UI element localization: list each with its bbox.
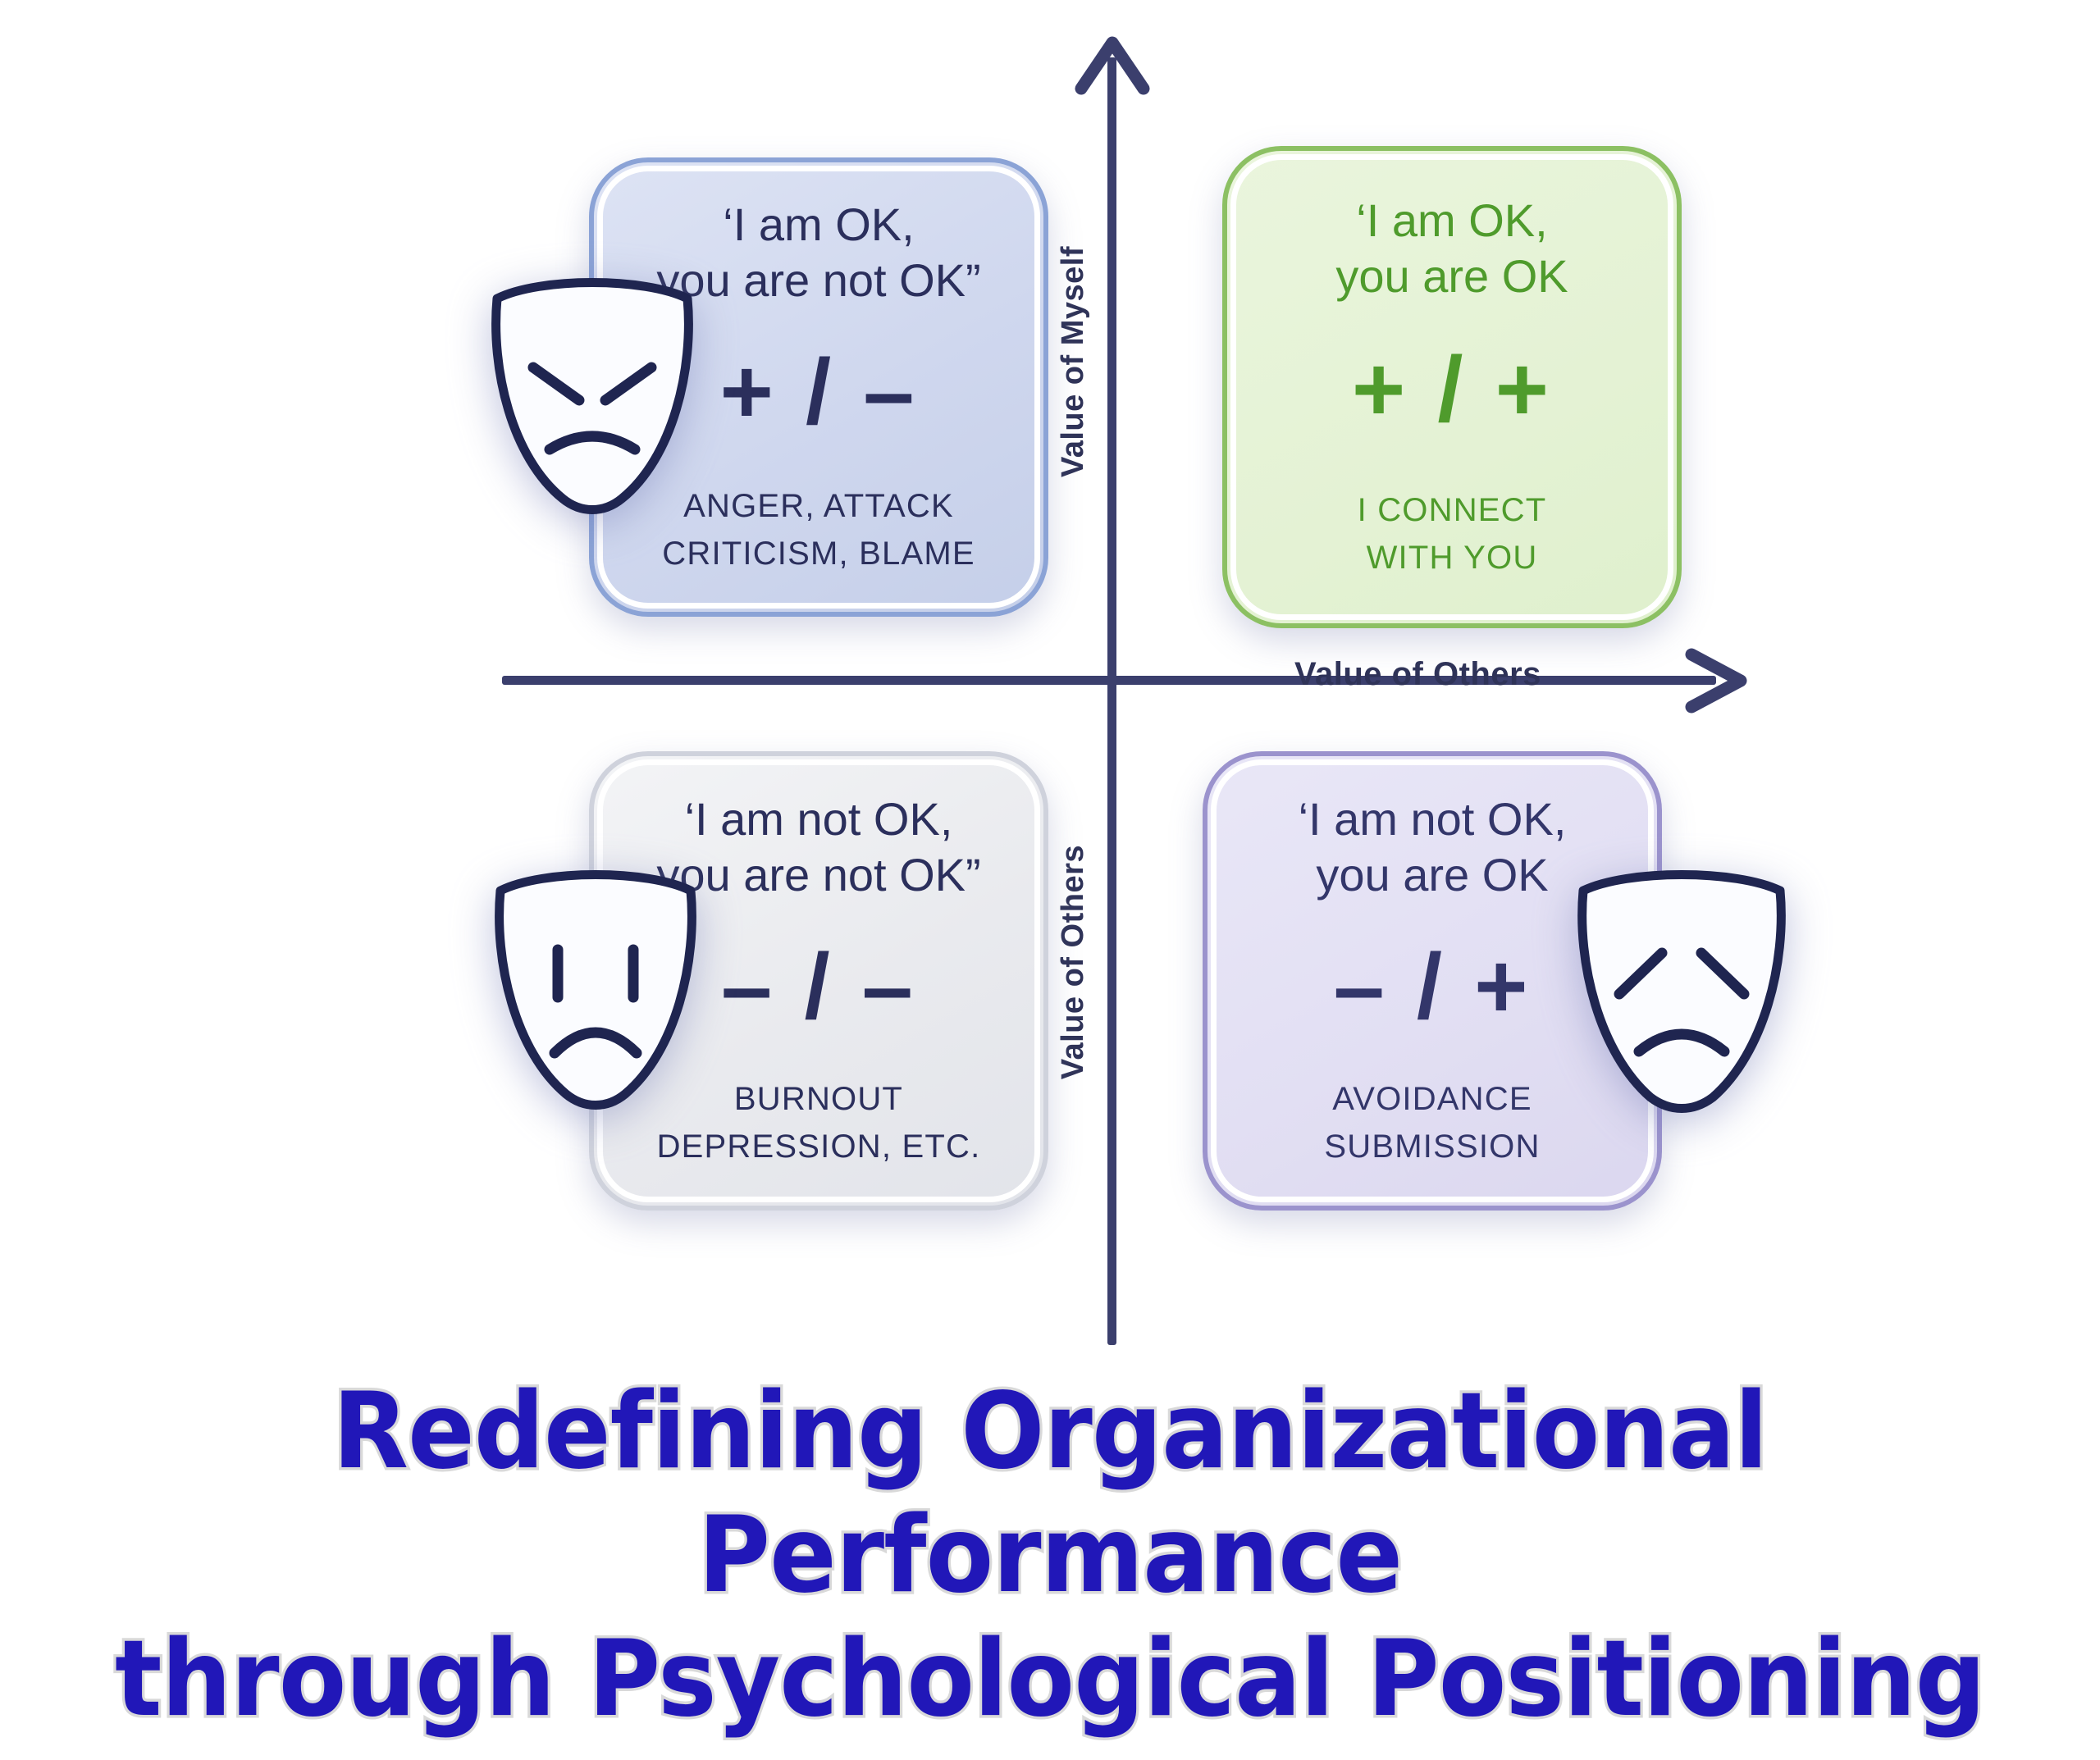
card-description: ANGER, ATTACK CRITICISM, BLAME xyxy=(662,482,975,577)
card-quote-line2: you are OK xyxy=(1335,248,1568,304)
card-desc-line2: SUBMISSION xyxy=(1324,1123,1540,1170)
page-title: Redefining Organizational Performance th… xyxy=(0,1370,2100,1741)
card-symbol: – / + xyxy=(1333,941,1531,1033)
card-quote-line1: ‘I am OK, xyxy=(1335,193,1568,248)
quadrant-card-top-right[interactable]: ‘I am OK, you are OK + / + I CONNECT WIT… xyxy=(1222,146,1682,628)
card-description: AVOIDANCE SUBMISSION xyxy=(1324,1075,1540,1170)
card-desc-line1: ANGER, ATTACK xyxy=(662,482,975,530)
card-desc-line2: DEPRESSION, ETC. xyxy=(657,1123,981,1170)
axis-label-value-of-others-vertical: Value of Others xyxy=(1056,845,1091,1079)
card-quote-line1: ‘I am not OK, xyxy=(1299,791,1567,847)
quadrant-diagram: Value of Myself Value of Others Value of… xyxy=(0,0,2100,1760)
vertical-axis-line xyxy=(1107,57,1116,1345)
horizontal-axis-arrow-icon xyxy=(1682,648,1757,714)
sad-mask-icon xyxy=(486,863,705,1120)
angry-mask-icon xyxy=(482,271,702,525)
page-title-line1: Redefining Organizational Performance xyxy=(63,1370,2037,1617)
card-quote: ‘I am OK, you are OK xyxy=(1335,193,1568,305)
card-symbol: + / + xyxy=(1352,344,1552,435)
card-quote-line2: you are not OK” xyxy=(656,253,980,308)
card-symbol: + / – xyxy=(719,346,917,438)
card-content: ‘I am OK, you are OK + / + I CONNECT WIT… xyxy=(1222,193,1682,582)
axis-label-value-of-others-horizontal: Value of Others xyxy=(1294,656,1541,693)
card-quote-line2: you are OK xyxy=(1299,847,1567,903)
card-desc-line2: WITH YOU xyxy=(1358,534,1547,581)
vertical-axis-arrow-icon xyxy=(1075,34,1150,95)
card-desc-line1: AVOIDANCE xyxy=(1324,1075,1540,1123)
card-symbol: – / – xyxy=(721,941,916,1033)
page-title-line2: through Psychological Positioning xyxy=(63,1617,2037,1741)
card-description: I CONNECT WITH YOU xyxy=(1358,486,1547,581)
card-desc-line1: I CONNECT xyxy=(1358,486,1547,534)
card-quote-line1: ‘I am OK, xyxy=(656,197,980,253)
card-quote-line1: ‘I am not OK, xyxy=(656,791,980,847)
axis-label-value-of-myself: Value of Myself xyxy=(1056,246,1091,477)
card-quote: ‘I am not OK, you are OK xyxy=(1299,791,1567,904)
card-quote: ‘I am OK, you are not OK” xyxy=(656,197,980,309)
worried-mask-icon xyxy=(1568,863,1795,1124)
card-desc-line2: CRITICISM, BLAME xyxy=(662,530,975,577)
